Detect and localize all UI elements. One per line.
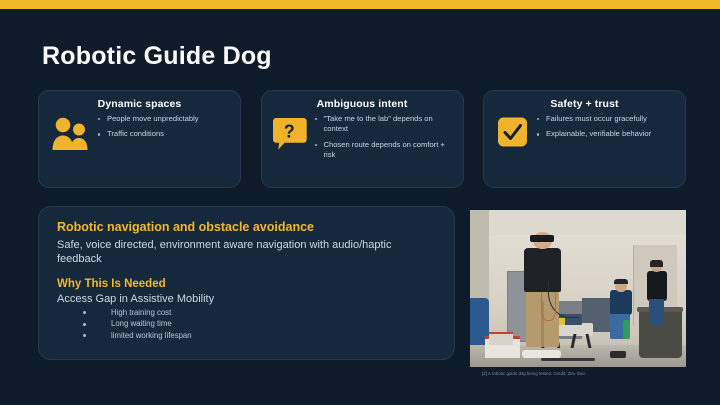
card-title: Ambiguous intent [271, 98, 454, 110]
top-accent-bar [0, 0, 720, 9]
card-safety-trust[interactable]: Safety + trust Failures must occur grace… [483, 90, 686, 188]
card-row: Dynamic spaces People move unpredictably… [38, 90, 686, 188]
card-body: ? "Take me to the lab" depends on contex… [271, 114, 454, 166]
card-bullet-list: Failures must occur gracefully Explainab… [536, 114, 676, 145]
card-body: People move unpredictably Traffic condit… [48, 114, 231, 160]
svg-text:?: ? [283, 122, 294, 142]
navigation-panel[interactable]: Robotic navigation and obstacle avoidanc… [38, 206, 455, 360]
page-title: Robotic Guide Dog [42, 42, 272, 71]
list-item: Explainable, verifiable behavior [536, 129, 676, 139]
panel-heading: Robotic navigation and obstacle avoidanc… [57, 220, 436, 234]
card-body: Failures must occur gracefully Explainab… [493, 114, 676, 160]
card-title: Safety + trust [493, 98, 676, 110]
checkmark-icon [495, 114, 529, 160]
photo-caption: [2] A robotic guide dog being tested. Cr… [470, 371, 686, 376]
guide-dog-photo [470, 210, 686, 367]
card-ambiguous-intent[interactable]: Ambiguous intent ? "Take me to the lab" … [261, 90, 464, 188]
card-bullet-list: "Take me to the lab" depends on context … [314, 114, 454, 166]
list-item: limited working lifespan [83, 330, 436, 341]
question-bubble-icon: ? [273, 114, 307, 160]
panel-subtitle-secondary: Access Gap in Assistive Mobility [57, 293, 436, 305]
list-item: Failures must occur gracefully [536, 114, 676, 124]
list-item: High training cost [83, 307, 436, 318]
slide: Robotic Guide Dog Dynamic spaces People … [0, 0, 720, 405]
card-dynamic-spaces[interactable]: Dynamic spaces People move unpredictably… [38, 90, 241, 188]
panel-heading-secondary: Why This Is Needed [57, 278, 436, 290]
people-icon [50, 114, 90, 160]
list-item: Chosen route depends on comfort + risk [314, 140, 454, 161]
list-item: "Take me to the lab" depends on context [314, 114, 454, 135]
list-item: Traffic conditions [97, 129, 231, 139]
card-bullet-list: People move unpredictably Traffic condit… [97, 114, 231, 145]
card-title: Dynamic spaces [48, 98, 231, 110]
list-item: People move unpredictably [97, 114, 231, 124]
panel-subtitle: Safe, voice directed, environment aware … [57, 238, 436, 266]
photo-block: [2] A robotic guide dog being tested. Cr… [470, 210, 686, 385]
panel-bullet-list: High training cost Long waiting time lim… [57, 307, 436, 341]
list-item: Long waiting time [83, 318, 436, 329]
